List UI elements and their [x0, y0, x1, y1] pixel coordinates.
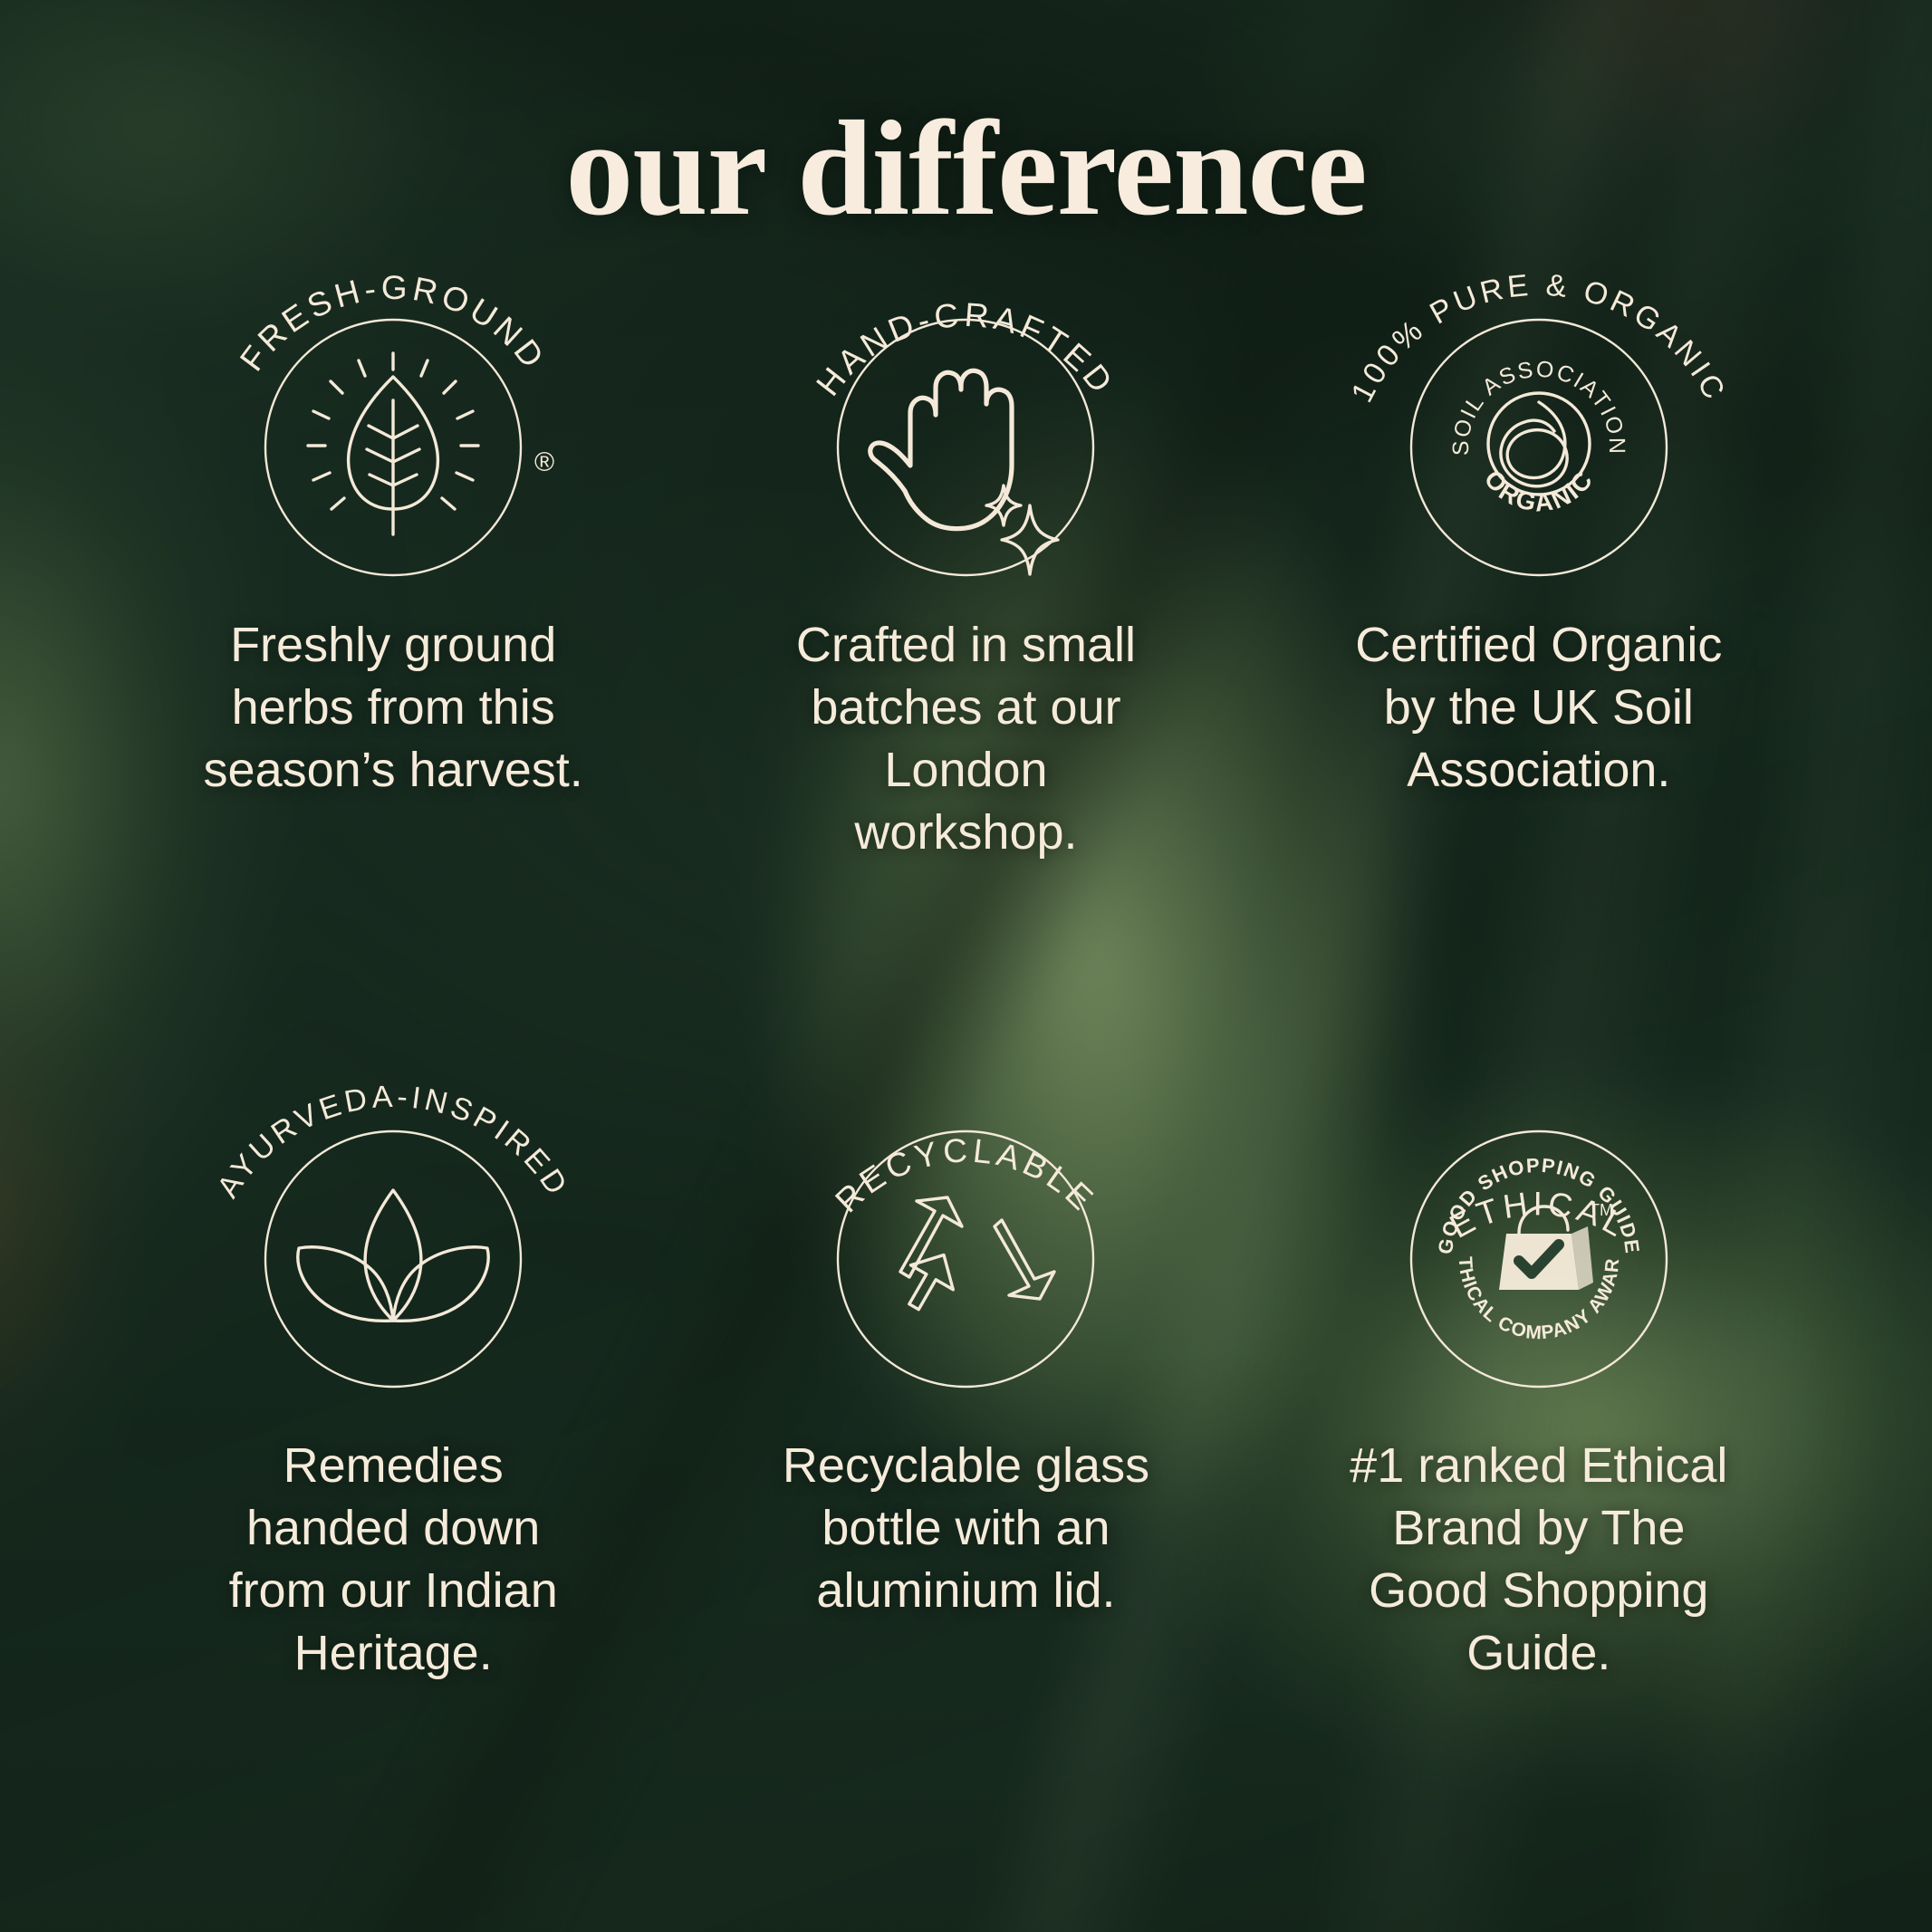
badge-recyclable: RECYCLABLE [757, 1056, 1174, 1418]
recycling-arrows-icon [894, 1197, 1054, 1320]
feature-caption: Certified Organic by the UK Soil Associa… [1349, 614, 1729, 802]
feature-caption: Freshly ground herbs from this season’s … [203, 614, 583, 802]
arc-label-pure-organic: 100% PURE & ORGANIC [1344, 268, 1733, 408]
sprouting-leaf-badge-svg: FRESH-GROUND ® [185, 245, 601, 607]
badge-pure-organic: 100% PURE & ORGANIC SOIL ASSOCIATION [1331, 245, 1747, 607]
arc-label-ayurveda-inspired: AYURVEDA-INSPIRED [211, 1079, 576, 1203]
good-shopping-guide-award-icon: GOOD SHOPPING GUIDE ETHICAL COMPANY AWAR… [1323, 1040, 1644, 1343]
registered-trademark-symbol: ® [534, 447, 554, 477]
feature-card-ayurveda-inspired: AYURVEDA-INSPIRED [107, 1056, 679, 1860]
ayurveda-badge-svg: AYURVEDA-INSPIRED [185, 1056, 601, 1418]
badge-ethical: ETHICAL GOOD SHOPPING GUIDE [1331, 1056, 1747, 1418]
lotus-leaves-icon [298, 1190, 488, 1321]
our-difference-panel: our difference FRESH-GROUND ® [0, 0, 1932, 1932]
open-hand-sparkle-icon [870, 370, 1058, 574]
feature-card-ethical: ETHICAL GOOD SHOPPING GUIDE [1253, 1056, 1825, 1860]
badge-hand-crafted: HAND-CRAFTED [757, 245, 1174, 607]
trademark-symbol: TM [1590, 1201, 1613, 1219]
feature-card-recyclable: RECYCLABLE Recy [679, 1056, 1252, 1860]
badge-fresh-ground: FRESH-GROUND ® [185, 245, 601, 607]
soil-association-organic-icon: SOIL ASSOCIATION ORGANIC [1448, 356, 1629, 516]
ethical-badge-svg: ETHICAL GOOD SHOPPING GUIDE [1331, 1056, 1747, 1418]
arc-label-hand-crafted: HAND-CRAFTED [810, 296, 1123, 403]
feature-card-hand-crafted: HAND-CRAFTED Cr [679, 245, 1252, 1049]
feature-caption: Crafted in small batches at our London w… [775, 614, 1156, 864]
page-title: our difference [0, 98, 1932, 241]
feature-grid: FRESH-GROUND ® [107, 245, 1825, 1860]
badge-ring [265, 1131, 521, 1387]
sprouting-leaf-icon [308, 353, 478, 534]
soil-association-arc-top: SOIL ASSOCIATION [1448, 356, 1629, 456]
feature-card-fresh-ground: FRESH-GROUND ® [107, 245, 679, 1049]
feature-caption: Recyclable glass bottle with an aluminiu… [775, 1435, 1156, 1622]
badge-ayurveda-inspired: AYURVEDA-INSPIRED [185, 1056, 601, 1418]
pure-organic-badge-svg: 100% PURE & ORGANIC SOIL ASSOCIATION [1331, 245, 1747, 607]
feature-caption: #1 ranked Ethical Brand by The Good Shop… [1349, 1435, 1729, 1685]
feature-caption: Remedies handed down from our Indian Her… [203, 1435, 583, 1685]
feature-card-pure-organic: 100% PURE & ORGANIC SOIL ASSOCIATION [1253, 245, 1825, 1049]
recyclable-badge-svg: RECYCLABLE [757, 1056, 1174, 1418]
hand-crafted-badge-svg: HAND-CRAFTED [757, 245, 1174, 607]
